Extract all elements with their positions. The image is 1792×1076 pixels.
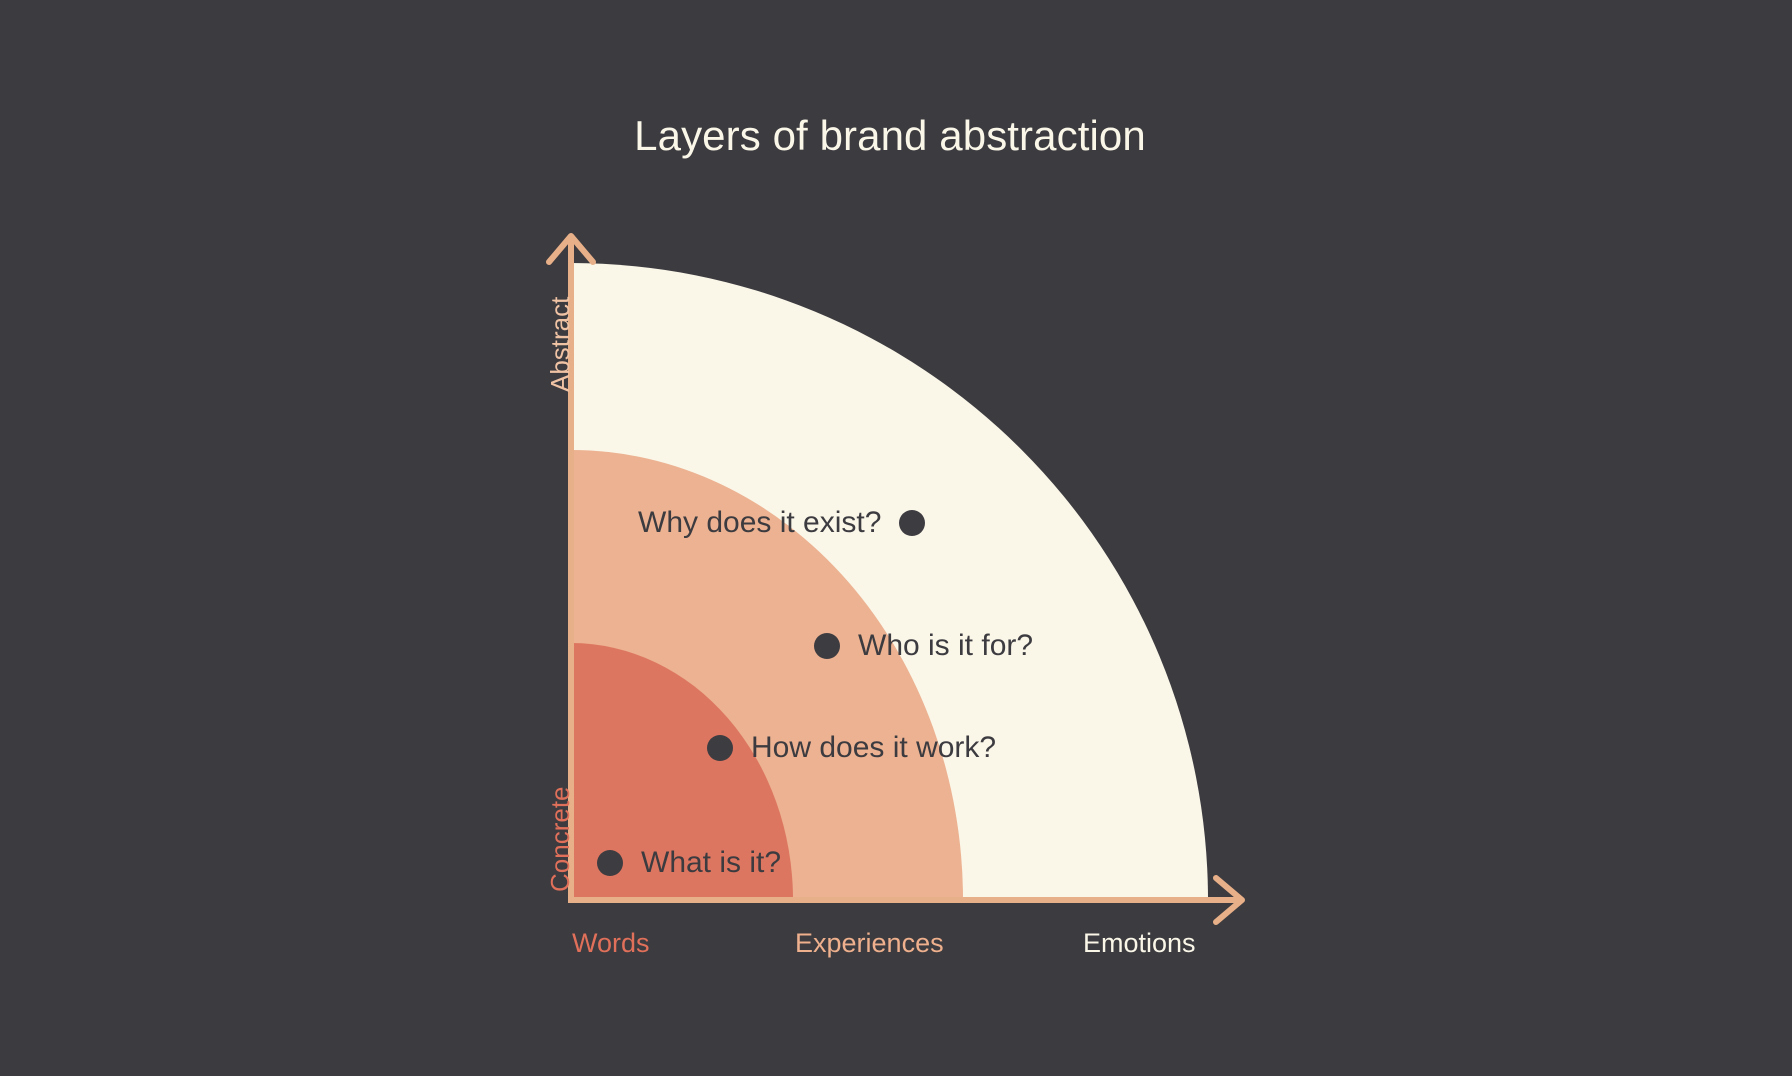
- node-who-label: Who is it for?: [858, 629, 1033, 663]
- node-dot-icon: [814, 633, 840, 659]
- node-dot-icon: [899, 510, 925, 536]
- node-why-label: Why does it exist?: [638, 506, 881, 540]
- node-how-does-it-work[interactable]: How does it work?: [707, 731, 996, 765]
- diagram-canvas: Layers of brand abstraction Abstract Con…: [0, 0, 1792, 1076]
- y-axis-label-abstract: Abstract: [545, 297, 576, 392]
- node-what-is-it[interactable]: What is it?: [597, 846, 781, 880]
- y-axis-label-concrete: Concrete: [545, 787, 576, 893]
- node-what-label: What is it?: [641, 846, 781, 880]
- node-dot-icon: [597, 850, 623, 876]
- node-who-is-it-for[interactable]: Who is it for?: [814, 629, 1033, 663]
- x-tick-label-words: Words: [572, 928, 650, 959]
- node-how-label: How does it work?: [751, 731, 996, 765]
- x-tick-label-experiences: Experiences: [795, 928, 944, 959]
- node-why-does-it-exist[interactable]: Why does it exist?: [638, 506, 925, 540]
- node-dot-icon: [707, 735, 733, 761]
- x-tick-label-emotions: Emotions: [1083, 928, 1196, 959]
